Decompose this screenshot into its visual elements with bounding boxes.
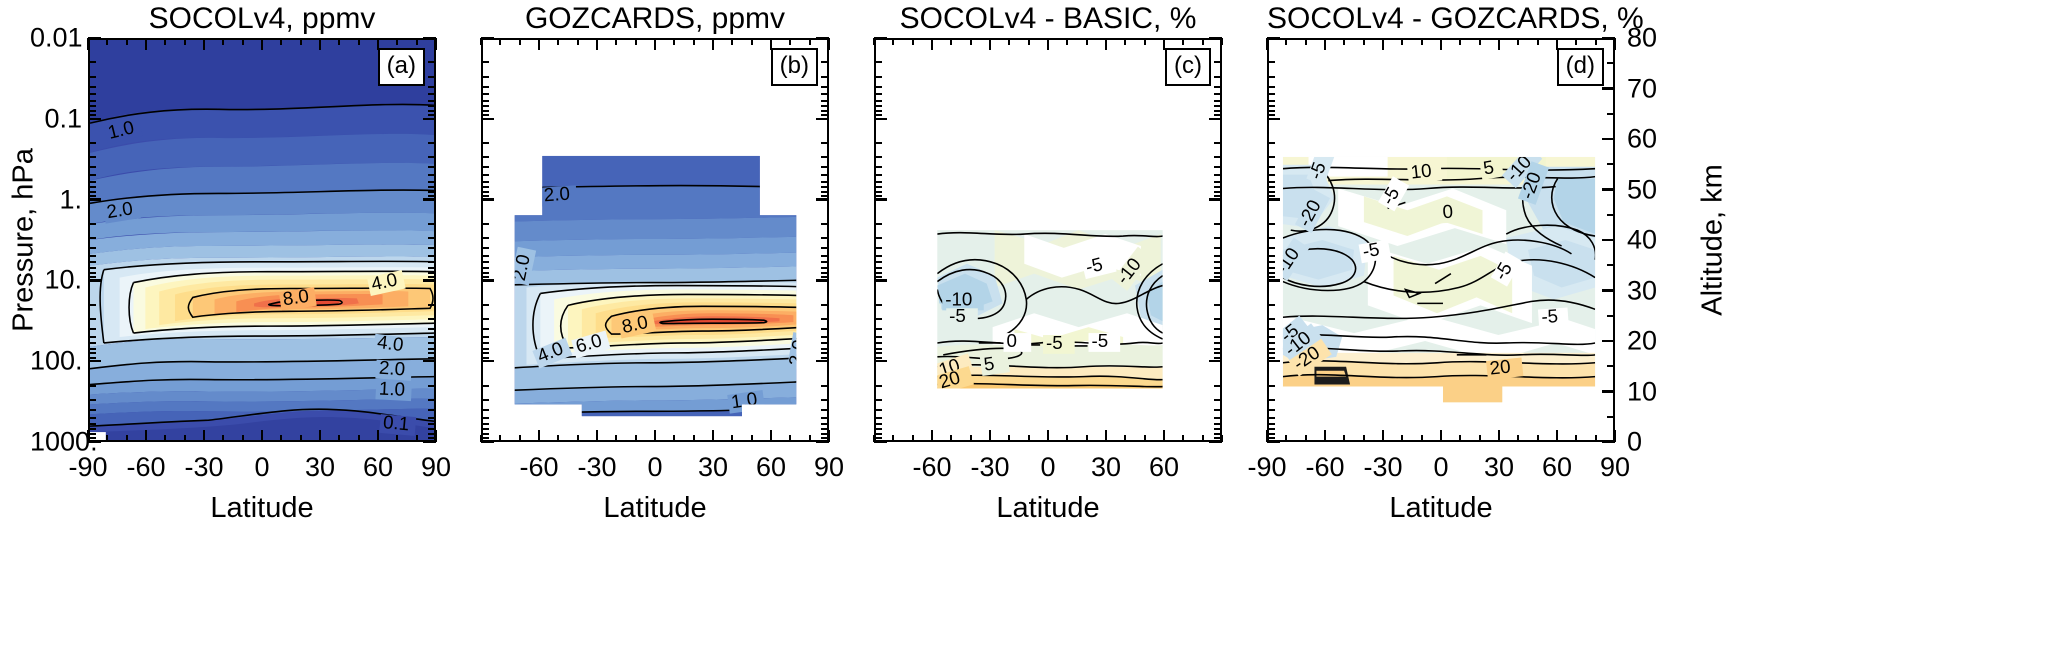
y-minor-tick-left [1267, 348, 1275, 350]
x-tick-label: -30 [970, 452, 1009, 483]
x-minor-tick-top [519, 38, 521, 45]
y-major-tick-right [816, 441, 829, 443]
y-minor-tick-left [1267, 417, 1275, 419]
y-minor-tick-left [88, 423, 96, 425]
y-minor-tick-left [874, 276, 882, 278]
y-major-tick-right [1209, 441, 1222, 443]
contour-label-a-0p1: 0.1 [382, 411, 410, 434]
y-major-tick-right [1602, 188, 1615, 190]
x-minor-tick-top [615, 38, 617, 45]
y-minor-tick-left [88, 223, 96, 225]
x-major-tick-top [1266, 38, 1268, 50]
x-major-tick-top [654, 38, 656, 50]
y-minor-tick-left [88, 237, 96, 239]
y-minor-tick-right [428, 437, 436, 439]
x-minor-tick-bottom [1343, 435, 1345, 442]
y-minor-tick-left [481, 61, 489, 63]
y-minor-tick-left [1267, 142, 1275, 144]
x-major-tick-top [1047, 38, 1049, 50]
x-major-tick-top [1498, 38, 1500, 50]
y-minor-tick-left [874, 433, 882, 435]
y-major-tick-left [874, 198, 887, 200]
x-minor-tick-bottom [912, 435, 914, 442]
x-minor-tick-bottom [693, 435, 695, 442]
y-minor-tick-left [1267, 174, 1275, 176]
x-major-tick-bottom [654, 430, 656, 442]
y-minor-tick-right [821, 276, 829, 278]
x-minor-tick-bottom [126, 435, 128, 442]
y-minor-tick-right [428, 191, 436, 193]
y-minor-tick-left [88, 181, 96, 183]
y-major-tick-right [1209, 360, 1222, 362]
y-minor-tick-left [1267, 110, 1275, 112]
x-minor-tick-bottom [1182, 435, 1184, 442]
y-minor-tick-left [88, 267, 96, 269]
y-minor-tick-right [428, 110, 436, 112]
y-major-tick-left [481, 198, 494, 200]
x-tick-label: 0 [1433, 452, 1448, 483]
y-minor-tick-left [1267, 336, 1275, 338]
y-major-tick-right [1602, 441, 1615, 443]
x-minor-tick-top [1086, 38, 1088, 45]
x-minor-tick-bottom [519, 435, 521, 442]
y-minor-tick-left [1267, 261, 1275, 263]
x-minor-tick-bottom [338, 435, 340, 442]
x-major-tick-top [712, 38, 714, 50]
x-minor-tick-top [635, 38, 637, 45]
y-minor-tick-right [428, 261, 436, 263]
x-minor-tick-top [280, 38, 282, 45]
x-major-tick-top [87, 38, 89, 50]
y-minor-tick-right [1214, 267, 1222, 269]
y-minor-tick-left [1267, 100, 1275, 102]
y-minor-tick-right [821, 142, 829, 144]
contour-label-a-2p0-lower: 2.0 [378, 357, 405, 380]
x-minor-tick-bottom [1202, 435, 1204, 442]
contour-label-a-8p0: 8.0 [281, 285, 310, 309]
y-major-tick-right [423, 360, 436, 362]
y-minor-tick-left [874, 191, 882, 193]
y-minor-tick-left [874, 61, 882, 63]
y-minor-tick-left [481, 272, 489, 274]
y-minor-tick-left [481, 328, 489, 330]
x-minor-tick-top [1144, 38, 1146, 45]
y-minor-tick-right [428, 247, 436, 249]
y-minor-tick-right [428, 428, 436, 430]
y-minor-tick-right [428, 318, 436, 320]
y-minor-tick-right [1214, 437, 1222, 439]
y-minor-tick-left [1267, 437, 1275, 439]
y-minor-tick-left [874, 100, 882, 102]
x-tick-label: -90 [1247, 452, 1286, 483]
x-minor-tick-top [1575, 38, 1577, 45]
y-minor-tick-left [88, 105, 96, 107]
y-major-tick-right [1602, 390, 1615, 392]
y-minor-tick-left [481, 223, 489, 225]
x-minor-tick-bottom [416, 435, 418, 442]
y-minor-tick-right [821, 357, 829, 359]
y-minor-tick-left [874, 318, 882, 320]
y-minor-tick-left [874, 304, 882, 306]
x-tick-label: 60 [363, 452, 393, 483]
y-major-tick-right [1602, 37, 1615, 39]
y-minor-tick-left [481, 276, 489, 278]
panel-d-tag: (d) [1557, 48, 1604, 86]
x-minor-tick-top [106, 38, 108, 45]
x-major-tick-top [261, 38, 263, 50]
y-minor-tick-left [481, 267, 489, 269]
y-minor-tick-left [874, 272, 882, 274]
y-major-tick-left [88, 37, 101, 39]
y-minor-tick-left [481, 261, 489, 263]
x-major-tick-bottom [1440, 430, 1442, 442]
contour-label-d-neg5-low: -5 [1541, 305, 1559, 327]
x-major-tick-bottom [1324, 430, 1326, 442]
y-major-tick-right [423, 198, 436, 200]
x-minor-tick-top [1285, 38, 1287, 45]
y-minor-tick-right [821, 166, 829, 168]
y-minor-tick-left [1267, 304, 1275, 306]
x-minor-tick-top [1182, 38, 1184, 45]
y-axis-title-right: Altitude, km [1697, 164, 1730, 316]
y-minor-tick-left [481, 336, 489, 338]
y-minor-tick-left [874, 86, 882, 88]
y-minor-tick-left [1267, 255, 1275, 257]
y-minor-tick-right [1214, 110, 1222, 112]
y-minor-tick-left [88, 272, 96, 274]
y-minor-tick-left [88, 433, 96, 435]
y-minor-tick-left [1267, 76, 1275, 78]
y-minor-tick-left [874, 237, 882, 239]
y-minor-tick-right [1214, 237, 1222, 239]
y-minor-tick-right [821, 110, 829, 112]
y-minor-tick-left [874, 357, 882, 359]
y-minor-tick-left [1267, 195, 1275, 197]
y-minor-tick-left [481, 86, 489, 88]
y-minor-tick-right [428, 186, 436, 188]
y-minor-tick-right [1214, 186, 1222, 188]
y-minor-tick-left [481, 105, 489, 107]
y-minor-tick-left [88, 156, 96, 158]
y-minor-tick-right [1214, 76, 1222, 78]
x-tick-label: 90 [814, 452, 844, 483]
y-minor-tick-left [88, 110, 96, 112]
y-major-tick-right [1209, 37, 1222, 39]
x-minor-tick-bottom [1028, 435, 1030, 442]
y-minor-tick-left [88, 336, 96, 338]
y-minor-tick-left [481, 195, 489, 197]
y-minor-tick-right [1214, 348, 1222, 350]
y-minor-tick-right [1214, 357, 1222, 359]
y-minor-tick-right [1214, 105, 1222, 107]
x-major-tick-top [203, 38, 205, 50]
y-minor-tick-right [428, 156, 436, 158]
y-minor-tick-left [88, 166, 96, 168]
y-tick-label-left: 0.1 [30, 103, 82, 134]
y-minor-tick-right [428, 237, 436, 239]
x-minor-tick-bottom [1401, 435, 1403, 442]
y-minor-tick-left [874, 348, 882, 350]
x-major-tick-bottom [712, 430, 714, 442]
y-minor-tick-left [481, 142, 489, 144]
y-minor-tick-left [481, 100, 489, 102]
panel-d-plot: -5 10 5 -10 [1267, 38, 1615, 442]
y-major-tick-left [1267, 118, 1280, 120]
y-minor-tick-left [874, 423, 882, 425]
y-minor-tick-left [88, 385, 96, 387]
y-tick-label-right: 10 [1627, 376, 1657, 407]
y-minor-tick-left [1267, 318, 1275, 320]
x-minor-tick-top [1305, 38, 1307, 45]
y-minor-tick-left [874, 385, 882, 387]
y-minor-tick-left [874, 174, 882, 176]
x-tick-label: -30 [1363, 452, 1402, 483]
y-minor-tick-right [821, 156, 829, 158]
panel-b-title: GOZCARDS, ppmv [481, 2, 829, 36]
x-major-tick-top [989, 38, 991, 50]
y-minor-tick-right [1214, 304, 1222, 306]
x-minor-tick-top [1421, 38, 1423, 45]
y-minor-tick-right [1214, 61, 1222, 63]
y-minor-tick-left [1267, 156, 1275, 158]
y-major-tick-left [874, 118, 887, 120]
y-minor-tick-left [874, 352, 882, 354]
y-tick-label-right: 80 [1627, 23, 1657, 54]
y-minor-tick-right [821, 181, 829, 183]
y-major-tick-right [423, 37, 436, 39]
x-tick-label: 60 [1149, 452, 1179, 483]
y-minor-tick-left [481, 174, 489, 176]
x-major-tick-top [1105, 38, 1107, 50]
y-minor-tick-left [1267, 267, 1275, 269]
panel-c: SOCOLv4 - BASIC, % [874, 38, 1222, 442]
y-minor-tick-right [428, 267, 436, 269]
y-minor-tick-left [88, 142, 96, 144]
y-tick-label-right: 50 [1627, 174, 1657, 205]
x-major-tick-bottom [1498, 430, 1500, 442]
y-minor-tick-right [428, 423, 436, 425]
x-minor-tick-bottom [1459, 435, 1461, 442]
y-major-tick-left [481, 37, 494, 39]
y-tick-label-left: 1000. [30, 427, 82, 458]
y-minor-tick-right [428, 433, 436, 435]
y-minor-tick-left [481, 191, 489, 193]
x-tick-label: -30 [577, 452, 616, 483]
y-minor-tick-right [428, 342, 436, 344]
y-minor-tick-left [1267, 61, 1275, 63]
x-tick-label: -60 [912, 452, 951, 483]
x-major-tick-bottom [377, 430, 379, 442]
contour-label-b-2p0-right: 2.0 [785, 338, 810, 367]
x-minor-tick-bottom [106, 435, 108, 442]
y-minor-tick-left [88, 100, 96, 102]
x-minor-tick-bottom [242, 435, 244, 442]
y-minor-tick-left [88, 348, 96, 350]
x-minor-tick-bottom [358, 435, 360, 442]
y-minor-tick-right [1214, 247, 1222, 249]
y-tick-label-right: 0 [1627, 427, 1642, 458]
y-axis-title-left: Pressure, hPa [8, 148, 41, 332]
x-minor-tick-top [950, 38, 952, 45]
panel-b-contours: 2.0 2.0 4.0 6.0 [483, 40, 827, 440]
x-minor-tick-bottom [164, 435, 166, 442]
y-minor-tick-left [88, 357, 96, 359]
y-minor-tick-right [428, 417, 436, 419]
y-minor-tick-left [88, 61, 96, 63]
x-tick-label: 30 [1484, 452, 1514, 483]
y-minor-tick-left [874, 105, 882, 107]
y-tick-label-left: 100. [30, 346, 82, 377]
y-minor-tick-left [481, 156, 489, 158]
y-minor-tick-right [1607, 62, 1615, 64]
y-minor-tick-right [821, 348, 829, 350]
y-minor-tick-left [88, 191, 96, 193]
x-major-tick-bottom [1382, 430, 1384, 442]
y-minor-tick-right [1214, 261, 1222, 263]
x-major-tick-bottom [596, 430, 598, 442]
x-minor-tick-top [126, 38, 128, 45]
y-minor-tick-right [1214, 276, 1222, 278]
x-minor-tick-top [1066, 38, 1068, 45]
x-major-tick-bottom [1556, 430, 1558, 442]
y-minor-tick-left [874, 428, 882, 430]
y-minor-tick-right [1214, 399, 1222, 401]
x-minor-tick-top [396, 38, 398, 45]
y-minor-tick-left [88, 76, 96, 78]
y-minor-tick-left [88, 261, 96, 263]
x-tick-label: -30 [184, 452, 223, 483]
y-minor-tick-left [1267, 276, 1275, 278]
y-minor-tick-left [481, 247, 489, 249]
y-minor-tick-left [874, 409, 882, 411]
y-minor-tick-right [428, 114, 436, 116]
y-minor-tick-left [1267, 86, 1275, 88]
y-minor-tick-right [1214, 100, 1222, 102]
x-minor-tick-bottom [1066, 435, 1068, 442]
y-minor-tick-left [1267, 385, 1275, 387]
x-tick-label: 90 [421, 452, 451, 483]
x-minor-tick-top [222, 38, 224, 45]
x-minor-tick-bottom [1421, 435, 1423, 442]
y-minor-tick-left [88, 437, 96, 439]
y-minor-tick-right [1214, 423, 1222, 425]
y-minor-tick-left [88, 409, 96, 411]
y-minor-tick-left [481, 433, 489, 435]
x-minor-tick-bottom [751, 435, 753, 442]
y-major-tick-left [88, 360, 101, 362]
y-minor-tick-left [88, 186, 96, 188]
y-major-tick-right [1209, 118, 1222, 120]
figure-root: SOCOLv4, ppmv [0, 0, 2067, 667]
x-minor-tick-top [693, 38, 695, 45]
y-minor-tick-right [1214, 86, 1222, 88]
x-minor-tick-bottom [499, 435, 501, 442]
y-minor-tick-left [481, 385, 489, 387]
x-minor-tick-bottom [1124, 435, 1126, 442]
x-minor-tick-bottom [950, 435, 952, 442]
y-minor-tick-right [428, 181, 436, 183]
panel-c-contours: -10 -5 -5 -10 [876, 40, 1220, 440]
x-minor-tick-bottom [1008, 435, 1010, 442]
y-minor-tick-right [1214, 174, 1222, 176]
y-minor-tick-left [1267, 191, 1275, 193]
y-minor-tick-left [1267, 433, 1275, 435]
y-minor-tick-left [1267, 237, 1275, 239]
y-minor-tick-left [481, 93, 489, 95]
panel-d: SOCOLv4 - GOZCARDS, % [1267, 38, 1615, 442]
y-minor-tick-right [1214, 336, 1222, 338]
x-minor-tick-bottom [222, 435, 224, 442]
y-minor-tick-right [1607, 264, 1615, 266]
x-minor-tick-bottom [1144, 435, 1146, 442]
y-minor-tick-left [874, 110, 882, 112]
x-minor-tick-top [970, 38, 972, 45]
x-tick-label: -60 [1305, 452, 1344, 483]
x-minor-tick-bottom [1285, 435, 1287, 442]
y-major-tick-right [1209, 198, 1222, 200]
x-major-tick-bottom [145, 430, 147, 442]
y-minor-tick-right [1214, 156, 1222, 158]
y-minor-tick-left [874, 166, 882, 168]
x-minor-tick-bottom [789, 435, 791, 442]
y-minor-tick-left [874, 156, 882, 158]
y-minor-tick-left [481, 237, 489, 239]
y-minor-tick-left [1267, 352, 1275, 354]
y-minor-tick-right [821, 100, 829, 102]
x-axis-title: Latitude [1389, 492, 1492, 525]
y-minor-tick-right [428, 195, 436, 197]
x-major-tick-top [1614, 38, 1616, 50]
y-minor-tick-left [874, 114, 882, 116]
y-minor-tick-right [428, 93, 436, 95]
y-minor-tick-left [88, 399, 96, 401]
y-minor-tick-right [1214, 181, 1222, 183]
y-minor-tick-left [481, 110, 489, 112]
y-minor-tick-right [1214, 223, 1222, 225]
panel-a-plot: 1.0 2.0 4.0 8.0 [88, 38, 436, 442]
x-minor-tick-bottom [673, 435, 675, 442]
y-major-tick-left [481, 279, 494, 281]
y-minor-tick-right [1214, 318, 1222, 320]
y-minor-tick-right [821, 61, 829, 63]
contour-label-a-2p0: 2.0 [105, 197, 134, 222]
y-minor-tick-right [821, 93, 829, 95]
contour-label-a-4p0-lower: 4.0 [376, 331, 404, 355]
x-minor-tick-top [751, 38, 753, 45]
y-minor-tick-left [88, 352, 96, 354]
y-minor-tick-right [1607, 163, 1615, 165]
y-minor-tick-right [821, 191, 829, 193]
panel-d-title: SOCOLv4 - GOZCARDS, % [1267, 2, 1615, 36]
y-minor-tick-right [821, 399, 829, 401]
y-minor-tick-left [481, 417, 489, 419]
panel-b-tag: (b) [771, 48, 818, 86]
y-major-tick-right [1602, 340, 1615, 342]
x-minor-tick-bottom [892, 435, 894, 442]
panel-a-title: SOCOLv4, ppmv [88, 2, 436, 36]
y-minor-tick-left [1267, 357, 1275, 359]
y-minor-tick-right [1214, 142, 1222, 144]
y-minor-tick-left [88, 174, 96, 176]
y-major-tick-left [481, 441, 494, 443]
y-major-tick-right [816, 198, 829, 200]
x-minor-tick-top [809, 38, 811, 45]
contour-label-d-20: 20 [1489, 356, 1512, 379]
x-minor-tick-bottom [1537, 435, 1539, 442]
y-minor-tick-right [1214, 342, 1222, 344]
y-minor-tick-right [1214, 93, 1222, 95]
y-minor-tick-left [481, 181, 489, 183]
